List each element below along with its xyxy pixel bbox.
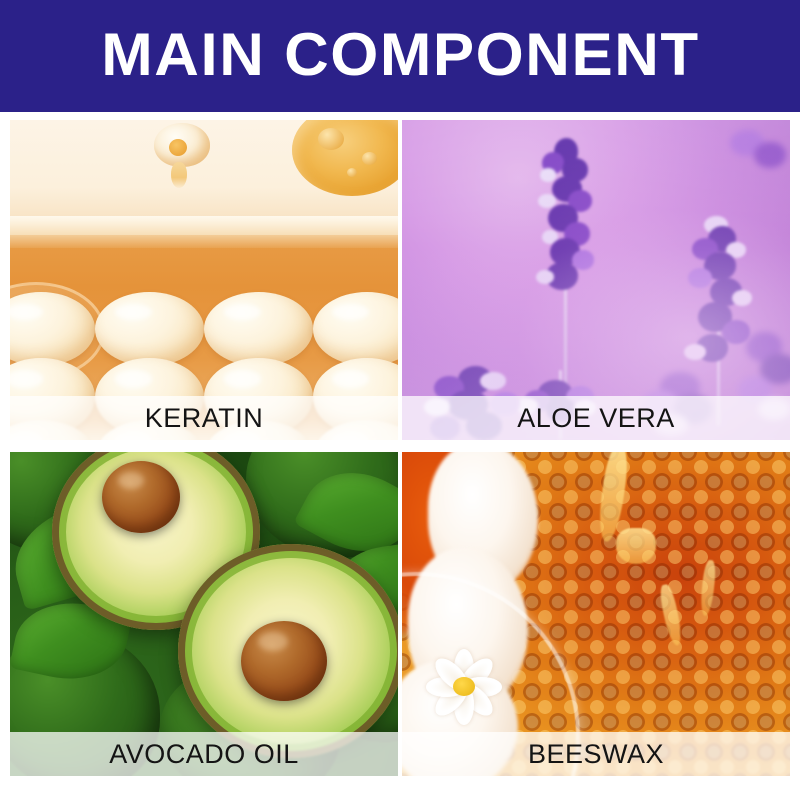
keratin-caption-band: KERATIN — [10, 396, 398, 440]
component-tile-beeswax[interactable]: BEESWAX — [402, 452, 790, 776]
avocado-pit — [241, 621, 327, 701]
keratin-capsule — [313, 292, 398, 366]
daisy-center — [453, 677, 475, 696]
page-title: MAIN COMPONENT — [101, 25, 699, 85]
component-grid: KERATIN — [10, 120, 790, 776]
beeswax-caption-band: BEESWAX — [402, 732, 790, 776]
keratin-capsule — [204, 292, 313, 366]
aloe-vera-photo — [402, 120, 790, 440]
beeswax-photo — [402, 452, 790, 776]
beeswax-caption-label: BEESWAX — [528, 741, 664, 768]
honey-drizzle — [616, 528, 656, 564]
component-tile-avocado-oil[interactable]: AVOCADO OIL — [10, 452, 398, 776]
keratin-capsule-row — [10, 292, 398, 366]
aloe-vera-caption-band: ALOE VERA — [402, 396, 790, 440]
avocado-oil-caption-label: AVOCADO OIL — [109, 741, 299, 768]
daisy-flower — [420, 648, 508, 726]
component-tile-keratin[interactable]: KERATIN — [10, 120, 398, 440]
avocado-pit — [102, 461, 180, 533]
component-tile-aloe-vera[interactable]: ALOE VERA — [402, 120, 790, 440]
lavender-haze-overlay — [402, 120, 790, 440]
keratin-serum-band — [10, 216, 398, 248]
avocado-oil-caption-band: AVOCADO OIL — [10, 732, 398, 776]
avocado-half — [178, 544, 398, 758]
main-component-infographic: MAIN COMPONENT — [0, 0, 800, 800]
keratin-capsule — [95, 292, 204, 366]
aloe-vera-caption-label: ALOE VERA — [517, 405, 675, 432]
keratin-caption-label: KERATIN — [145, 405, 264, 432]
header-banner: MAIN COMPONENT — [0, 0, 800, 112]
avocado-oil-photo — [10, 452, 398, 776]
keratin-photo — [10, 120, 398, 440]
keratin-drop-tail — [171, 162, 187, 188]
